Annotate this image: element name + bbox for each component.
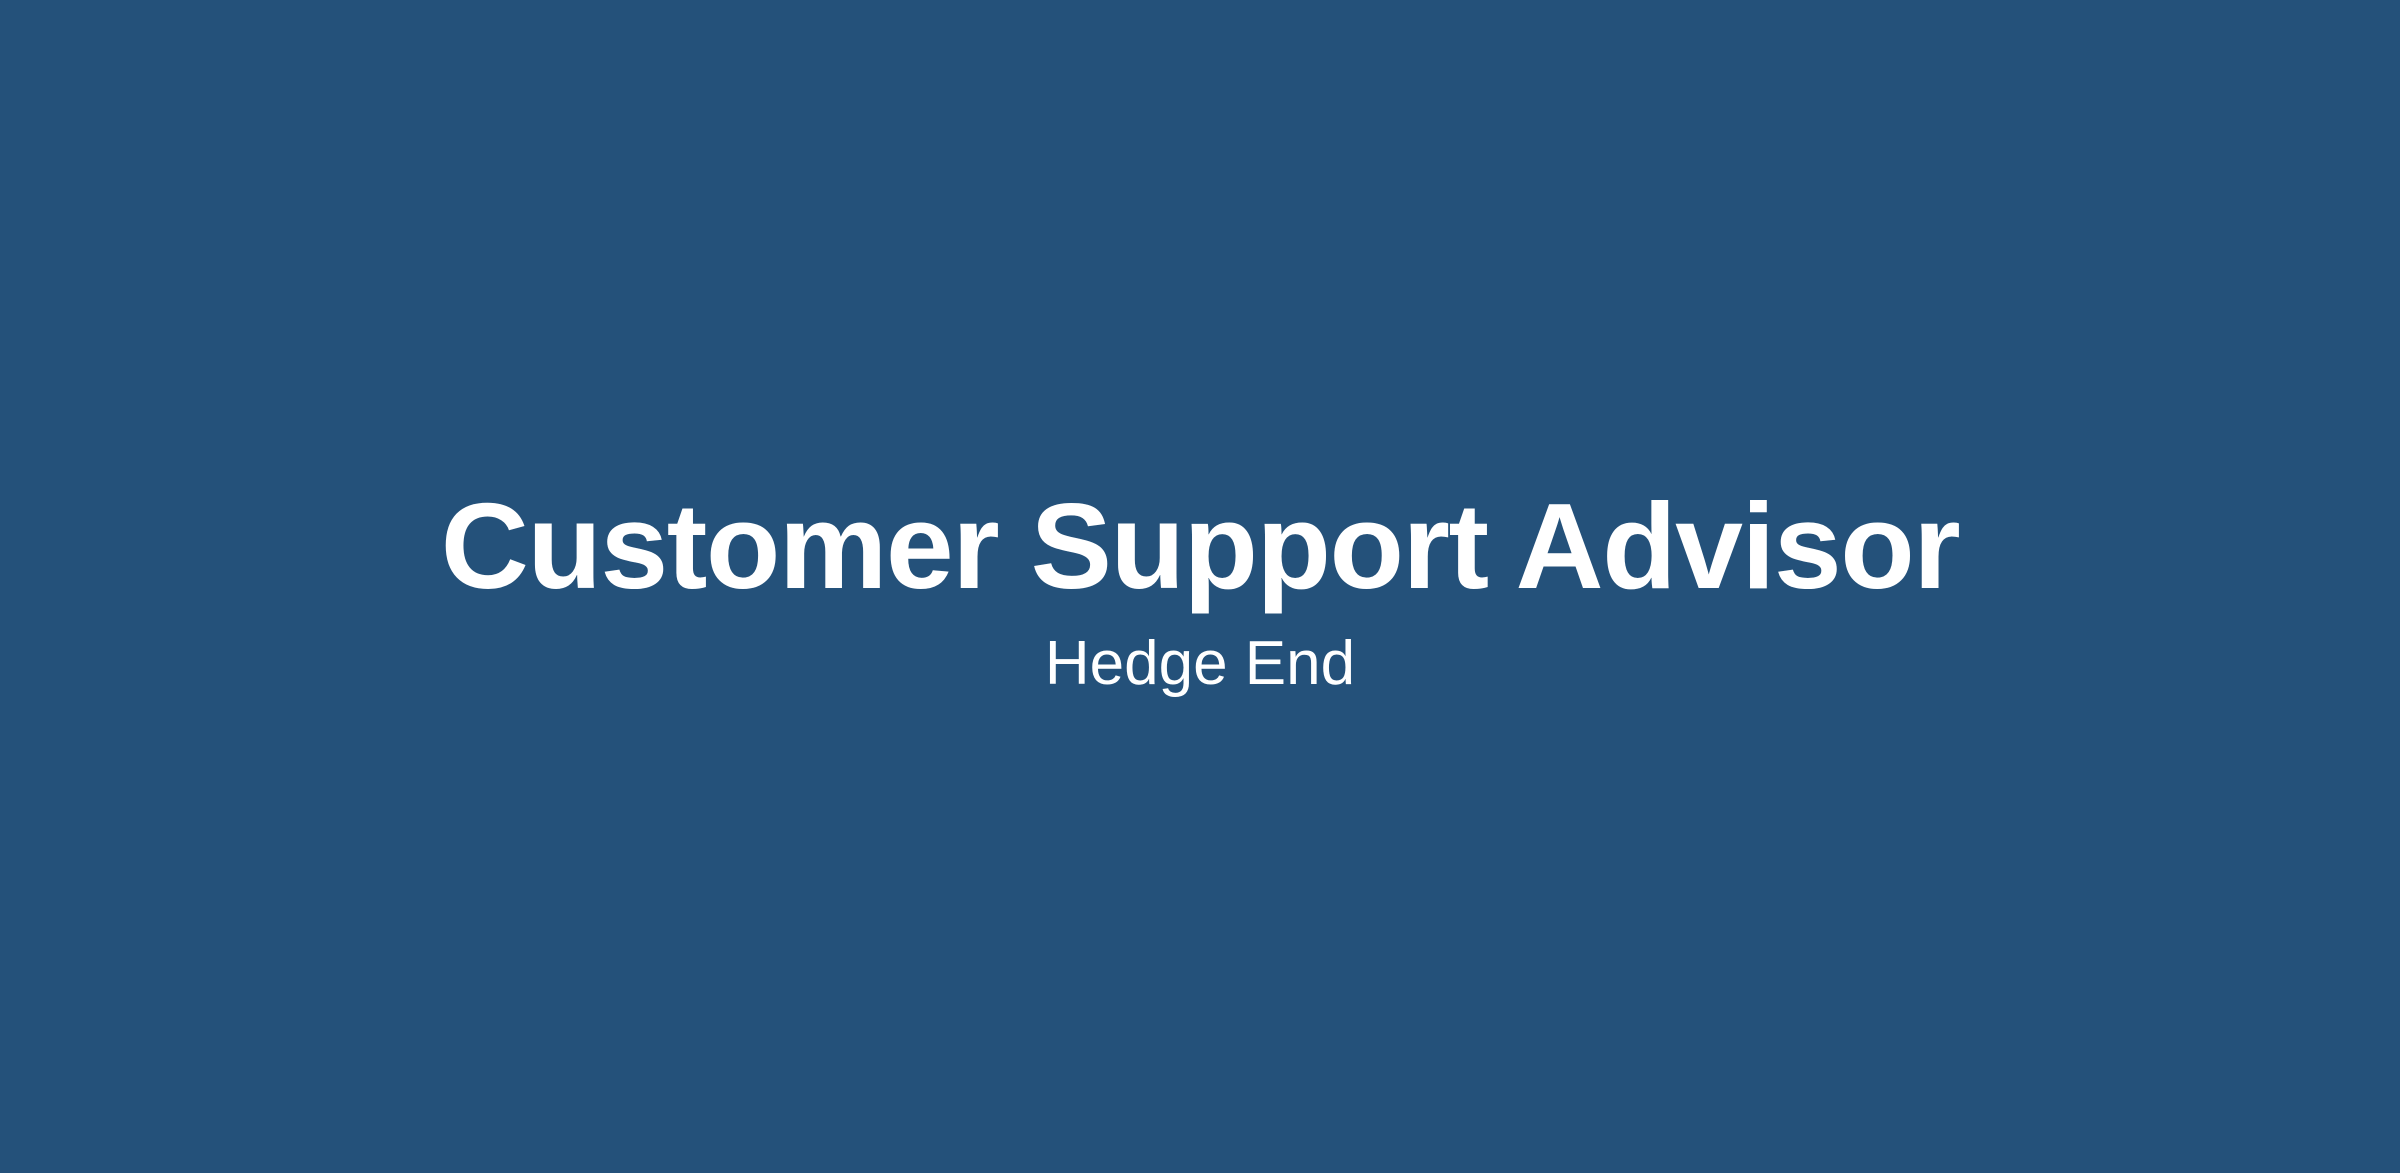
page-title: Customer Support Advisor: [441, 481, 1960, 613]
page-subtitle: Hedge End: [1045, 630, 1355, 698]
title-block: Customer Support Advisor Hedge End: [441, 481, 1960, 699]
title-card: Customer Support Advisor Hedge End: [0, 0, 2400, 1173]
